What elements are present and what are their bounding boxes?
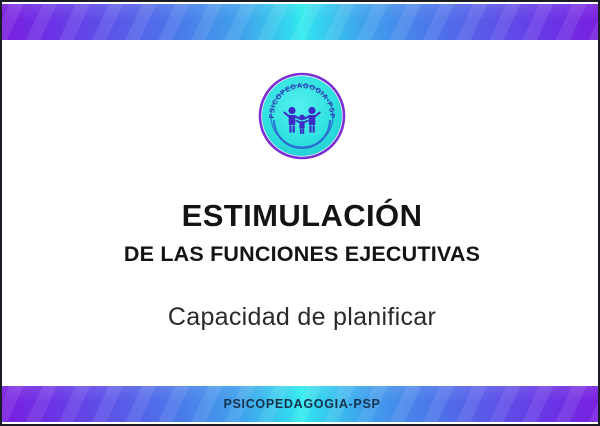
slide-subtitle-line: DE LAS FUNCIONES EJECUTIVAS	[124, 242, 480, 267]
logo-container: PSICOPEDAGOGIA-PSP	[258, 72, 346, 160]
slide-topic: Capacidad de planificar	[168, 303, 436, 332]
presentation-slide: PSICOPEDAGOGIA-PSP	[0, 0, 600, 426]
slide-content: PSICOPEDAGOGIA-PSP	[2, 40, 600, 388]
slide-title: ESTIMULACIÓN	[182, 200, 423, 233]
psicopedagogia-logo-icon: PSICOPEDAGOGIA-PSP	[258, 72, 346, 160]
footer-brand-label: PSICOPEDAGOGIA-PSP	[223, 397, 380, 411]
banner-sheen	[2, 4, 600, 20]
footer-caption-container: PSICOPEDAGOGIA-PSP	[2, 386, 600, 422]
top-gradient-banner	[2, 4, 600, 40]
